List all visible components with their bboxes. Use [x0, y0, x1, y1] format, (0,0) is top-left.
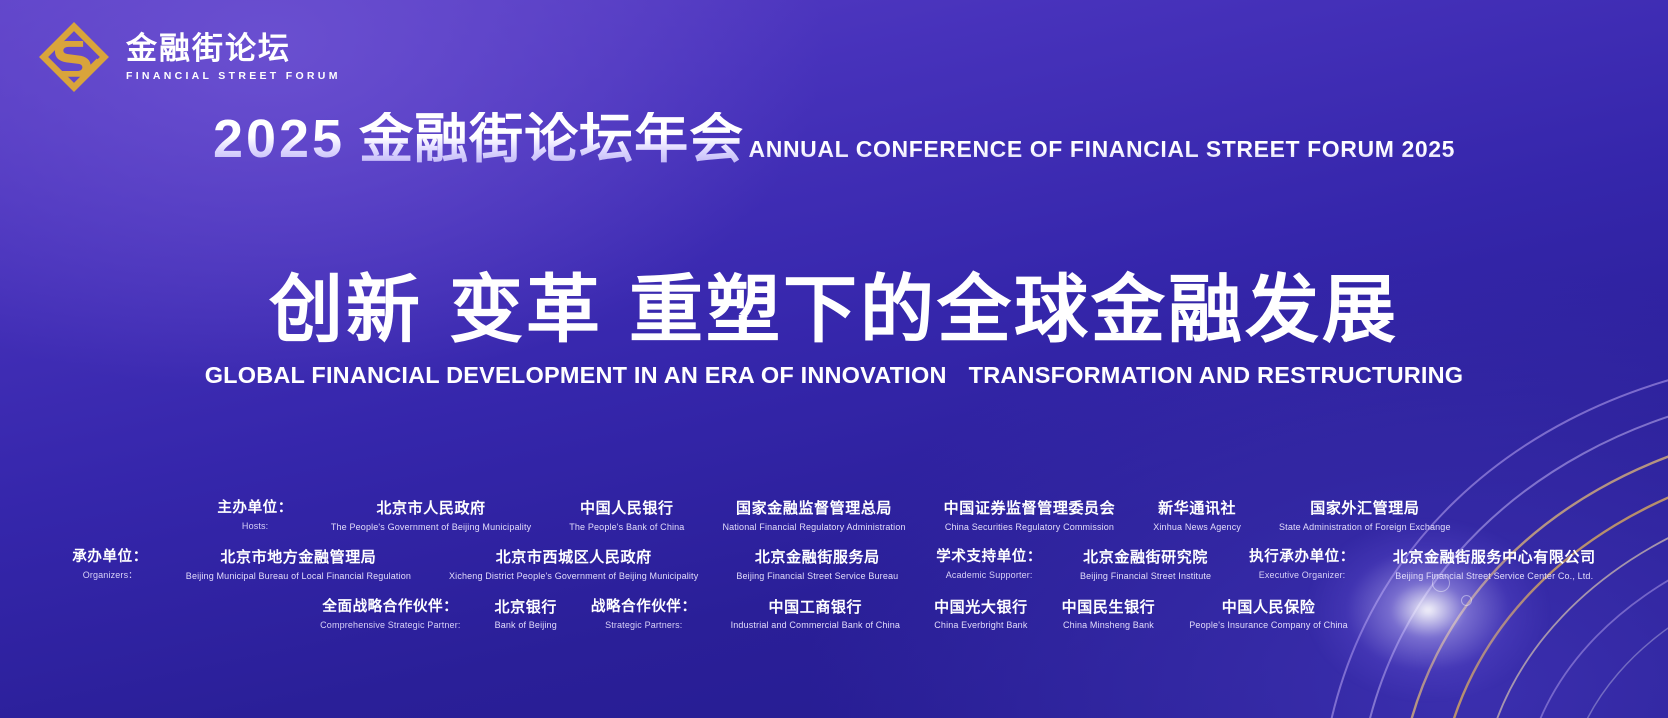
sponsor-row-partners: 全面战略合作伙伴： Comprehensive Strategic Partne…	[0, 599, 1668, 631]
sponsor-name-cn: 主办单位：	[217, 500, 293, 517]
conference-banner: 金融街论坛 FINANCIAL STREET FORUM 2025金融街论坛年会…	[0, 0, 1668, 718]
theme-word-2: 变革	[449, 268, 603, 351]
sponsor-name-cn: 中国人民银行	[569, 500, 684, 518]
sponsor-name-en: Hosts:	[217, 521, 293, 532]
sponsor-name-en: Executive Organizer:	[1249, 570, 1355, 581]
sponsor-item: 北京银行 Bank of Beijing	[495, 599, 557, 631]
sponsor-name-cn: 北京金融街研究院	[1080, 549, 1211, 567]
brand-name-en: FINANCIAL STREET FORUM	[126, 71, 341, 82]
sponsor-item: 新华通讯社 Xinhua News Agency	[1153, 500, 1241, 532]
sponsor-name-en: Beijing Financial Street Institute	[1080, 571, 1211, 582]
sponsor-name-en: Xicheng District People's Government of …	[449, 571, 698, 582]
theme-en-part-2: TRANSFORMATION AND RESTRUCTURING	[969, 362, 1464, 388]
sponsor-name-en: The People's Bank of China	[569, 522, 684, 533]
sponsor-name-en: Beijing Municipal Bureau of Local Financ…	[186, 571, 411, 582]
sponsor-item: 北京市人民政府 The People's Government of Beiji…	[331, 500, 531, 532]
event-year: 2025	[213, 109, 345, 169]
sponsor-name-en: The People's Government of Beijing Munic…	[331, 522, 531, 533]
sponsor-name-en: Organizers：	[72, 570, 148, 581]
sponsor-name-en: People's Insurance Company of China	[1189, 620, 1348, 631]
sponsor-item: 中国人民保险 People's Insurance Company of Chi…	[1189, 599, 1348, 631]
event-title-block: 2025金融街论坛年会 ANNUAL CONFERENCE OF FINANCI…	[0, 112, 1668, 166]
sponsor-name-en: National Financial Regulatory Administra…	[722, 522, 905, 533]
event-title-en: ANNUAL CONFERENCE OF FINANCIAL STREET FO…	[749, 136, 1456, 163]
sponsor-section: 主办单位： Hosts: 北京市人民政府 The People's Govern…	[0, 500, 1668, 631]
sponsor-name-cn: 中国工商银行	[731, 599, 900, 617]
sponsor-name-en: Industrial and Commercial Bank of China	[731, 620, 900, 631]
sponsor-label: 主办单位： Hosts:	[217, 500, 293, 532]
sponsor-name-en: China Minsheng Bank	[1062, 620, 1156, 631]
sponsor-item: 北京市西城区人民政府 Xicheng District People's Gov…	[449, 549, 698, 581]
event-title: 2025金融街论坛年会	[213, 112, 744, 166]
sponsor-item: 北京市地方金融管理局 Beijing Municipal Bureau of L…	[186, 549, 411, 581]
sponsor-name-cn: 北京市人民政府	[331, 500, 531, 518]
sponsor-name-en: Comprehensive Strategic Partner:	[320, 620, 460, 631]
sponsor-item: 中国光大银行 China Everbright Bank	[934, 599, 1028, 631]
sponsor-name-cn: 国家外汇管理局	[1279, 500, 1451, 518]
sponsor-item: 中国工商银行 Industrial and Commercial Bank of…	[731, 599, 900, 631]
sponsor-label: 全面战略合作伙伴： Comprehensive Strategic Partne…	[320, 599, 460, 631]
theme-block: 创新变革重塑下的全球金融发展 GLOBAL FINANCIAL DEVELOPM…	[0, 272, 1668, 389]
sponsor-item: 北京金融街服务局 Beijing Financial Street Servic…	[736, 549, 898, 581]
sponsor-name-en: Xinhua News Agency	[1153, 522, 1241, 533]
sponsor-name-cn: 中国人民保险	[1189, 599, 1348, 617]
sponsor-name-cn: 学术支持单位：	[936, 549, 1042, 566]
sponsor-name-en: Academic Supporter:	[936, 570, 1042, 581]
event-title-cn: 金融街论坛年会	[359, 109, 744, 169]
theme-word-1: 创新	[269, 268, 423, 351]
sponsor-row-hosts: 主办单位： Hosts: 北京市人民政府 The People's Govern…	[0, 500, 1668, 532]
sponsor-name-en: State Administration of Foreign Exchange	[1279, 522, 1451, 533]
sponsor-label: 学术支持单位： Academic Supporter:	[936, 549, 1042, 581]
theme-headline-en: GLOBAL FINANCIAL DEVELOPMENT IN AN ERA O…	[0, 362, 1668, 389]
sponsor-name-en: Bank of Beijing	[495, 620, 557, 631]
sponsor-name-cn: 新华通讯社	[1153, 500, 1241, 518]
brand-wordmark: 金融街论坛 FINANCIAL STREET FORUM	[126, 33, 341, 81]
sponsor-name-en: China Securities Regulatory Commission	[944, 522, 1116, 533]
sponsor-name-en: Strategic Partners:	[591, 620, 697, 631]
sponsor-name-en: Beijing Financial Street Service Bureau	[736, 571, 898, 582]
sponsor-name-cn: 执行承办单位：	[1249, 549, 1355, 566]
sponsor-label: 战略合作伙伴： Strategic Partners:	[591, 599, 697, 631]
sponsor-label: 承办单位： Organizers：	[72, 549, 148, 581]
sponsor-name-cn: 承办单位：	[72, 549, 148, 566]
sponsor-item: 中国民生银行 China Minsheng Bank	[1062, 599, 1156, 631]
sponsor-item: 国家金融监督管理总局 National Financial Regulatory…	[722, 500, 905, 532]
sponsor-name-cn: 中国光大银行	[934, 599, 1028, 617]
theme-word-3: 重塑下的全球金融发展	[629, 268, 1399, 351]
sponsor-item: 中国证券监督管理委员会 China Securities Regulatory …	[944, 500, 1116, 532]
sponsor-name-cn: 国家金融监督管理总局	[722, 500, 905, 518]
sponsor-name-cn: 中国民生银行	[1062, 599, 1156, 617]
financial-street-forum-diamond-logo-icon	[36, 19, 112, 95]
theme-headline-cn: 创新变革重塑下的全球金融发展	[0, 272, 1668, 348]
sponsor-item: 国家外汇管理局 State Administration of Foreign …	[1279, 500, 1451, 532]
sponsor-name-cn: 北京市地方金融管理局	[186, 549, 411, 567]
sponsor-name-cn: 北京金融街服务中心有限公司	[1393, 549, 1596, 567]
sponsor-item: 中国人民银行 The People's Bank of China	[569, 500, 684, 532]
brand-name-cn: 金融街论坛	[126, 33, 341, 66]
sponsor-name-cn: 北京金融街服务局	[736, 549, 898, 567]
sponsor-label: 执行承办单位： Executive Organizer:	[1249, 549, 1355, 581]
sponsor-name-cn: 战略合作伙伴：	[591, 599, 697, 616]
theme-en-part-1: GLOBAL FINANCIAL DEVELOPMENT IN AN ERA O…	[205, 362, 947, 388]
sponsor-name-en: Beijing Financial Street Service Center …	[1393, 571, 1596, 582]
sponsor-item: 北京金融街研究院 Beijing Financial Street Instit…	[1080, 549, 1211, 581]
brand-logo: 金融街论坛 FINANCIAL STREET FORUM	[36, 19, 341, 95]
sponsor-name-cn: 中国证券监督管理委员会	[944, 500, 1116, 518]
sponsor-name-cn: 全面战略合作伙伴：	[320, 599, 460, 616]
sponsor-name-en: China Everbright Bank	[934, 620, 1028, 631]
sponsor-name-cn: 北京市西城区人民政府	[449, 549, 698, 567]
sponsor-row-organizers: 承办单位： Organizers： 北京市地方金融管理局 Beijing Mun…	[0, 549, 1668, 581]
sponsor-item: 北京金融街服务中心有限公司 Beijing Financial Street S…	[1393, 549, 1596, 581]
sponsor-name-cn: 北京银行	[495, 599, 557, 617]
